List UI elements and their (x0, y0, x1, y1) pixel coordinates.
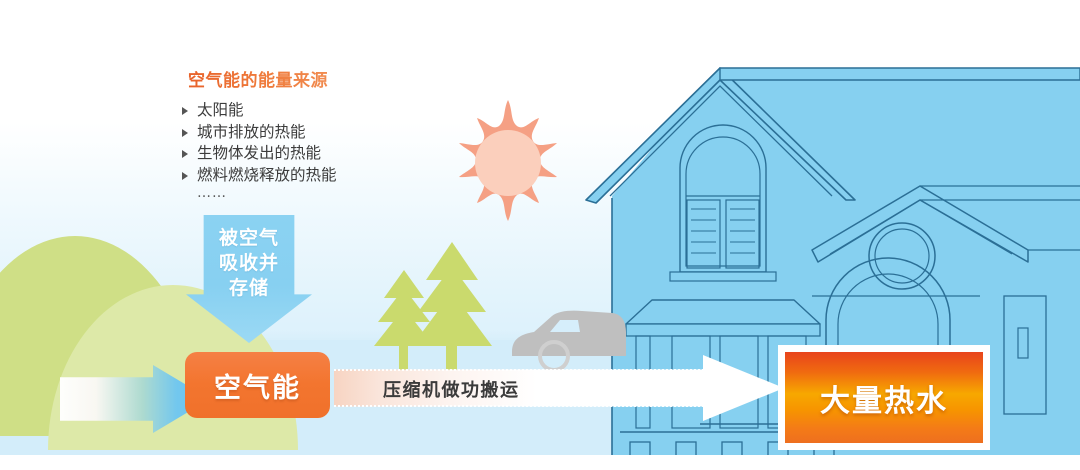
list-item-label: 太阳能 (197, 101, 244, 119)
list-item: 太阳能 (182, 100, 397, 122)
transfer-arrow-dash-bottom (334, 405, 704, 407)
list-item-label: 生物体发出的热能 (197, 144, 321, 162)
air-energy-badge: 空气能 (185, 352, 330, 418)
pine-trees-icon (372, 232, 494, 380)
energy-sources-panel: 空气能的能量来源 太阳能 城市排放的热能 生物体发出的热能 燃料燃烧释放的热能 … (182, 66, 397, 200)
absorb-line-3: 存储 (229, 276, 269, 301)
hot-water-gradient: 大量热水 (785, 352, 983, 443)
bottom-margin (0, 455, 1080, 470)
hot-water-label: 大量热水 (820, 376, 948, 420)
triangle-right-icon (182, 107, 188, 115)
panel-title: 空气能的能量来源 (188, 66, 397, 91)
sun-icon (443, 96, 573, 231)
list-item: 城市排放的热能 (182, 122, 397, 144)
list-ellipsis: …… (182, 186, 397, 200)
list-item: 生物体发出的热能 (182, 143, 397, 165)
absorb-line-1: 被空气 (219, 226, 279, 251)
air-energy-label: 空气能 (214, 366, 301, 405)
absorb-arrow-label: 被空气 吸收并 存储 (186, 226, 312, 336)
transfer-arrow-label: 压缩机做功搬运 (383, 374, 713, 404)
triangle-right-icon (182, 150, 188, 158)
energy-sources-list: 太阳能 城市排放的热能 生物体发出的热能 燃料燃烧释放的热能 (182, 100, 397, 186)
list-item: 燃料燃烧释放的热能 (182, 165, 397, 187)
triangle-right-icon (182, 129, 188, 137)
list-item-label: 燃料燃烧释放的热能 (197, 166, 337, 184)
car-icon (508, 308, 628, 370)
absorb-line-2: 吸收并 (219, 251, 279, 276)
transfer-arrow-dash-top (334, 369, 704, 371)
infographic-canvas: 空气能的能量来源 太阳能 城市排放的热能 生物体发出的热能 燃料燃烧释放的热能 … (0, 0, 1080, 470)
hot-water-box: 大量热水 (778, 345, 990, 450)
list-item-label: 城市排放的热能 (197, 123, 306, 141)
triangle-right-icon (182, 172, 188, 180)
